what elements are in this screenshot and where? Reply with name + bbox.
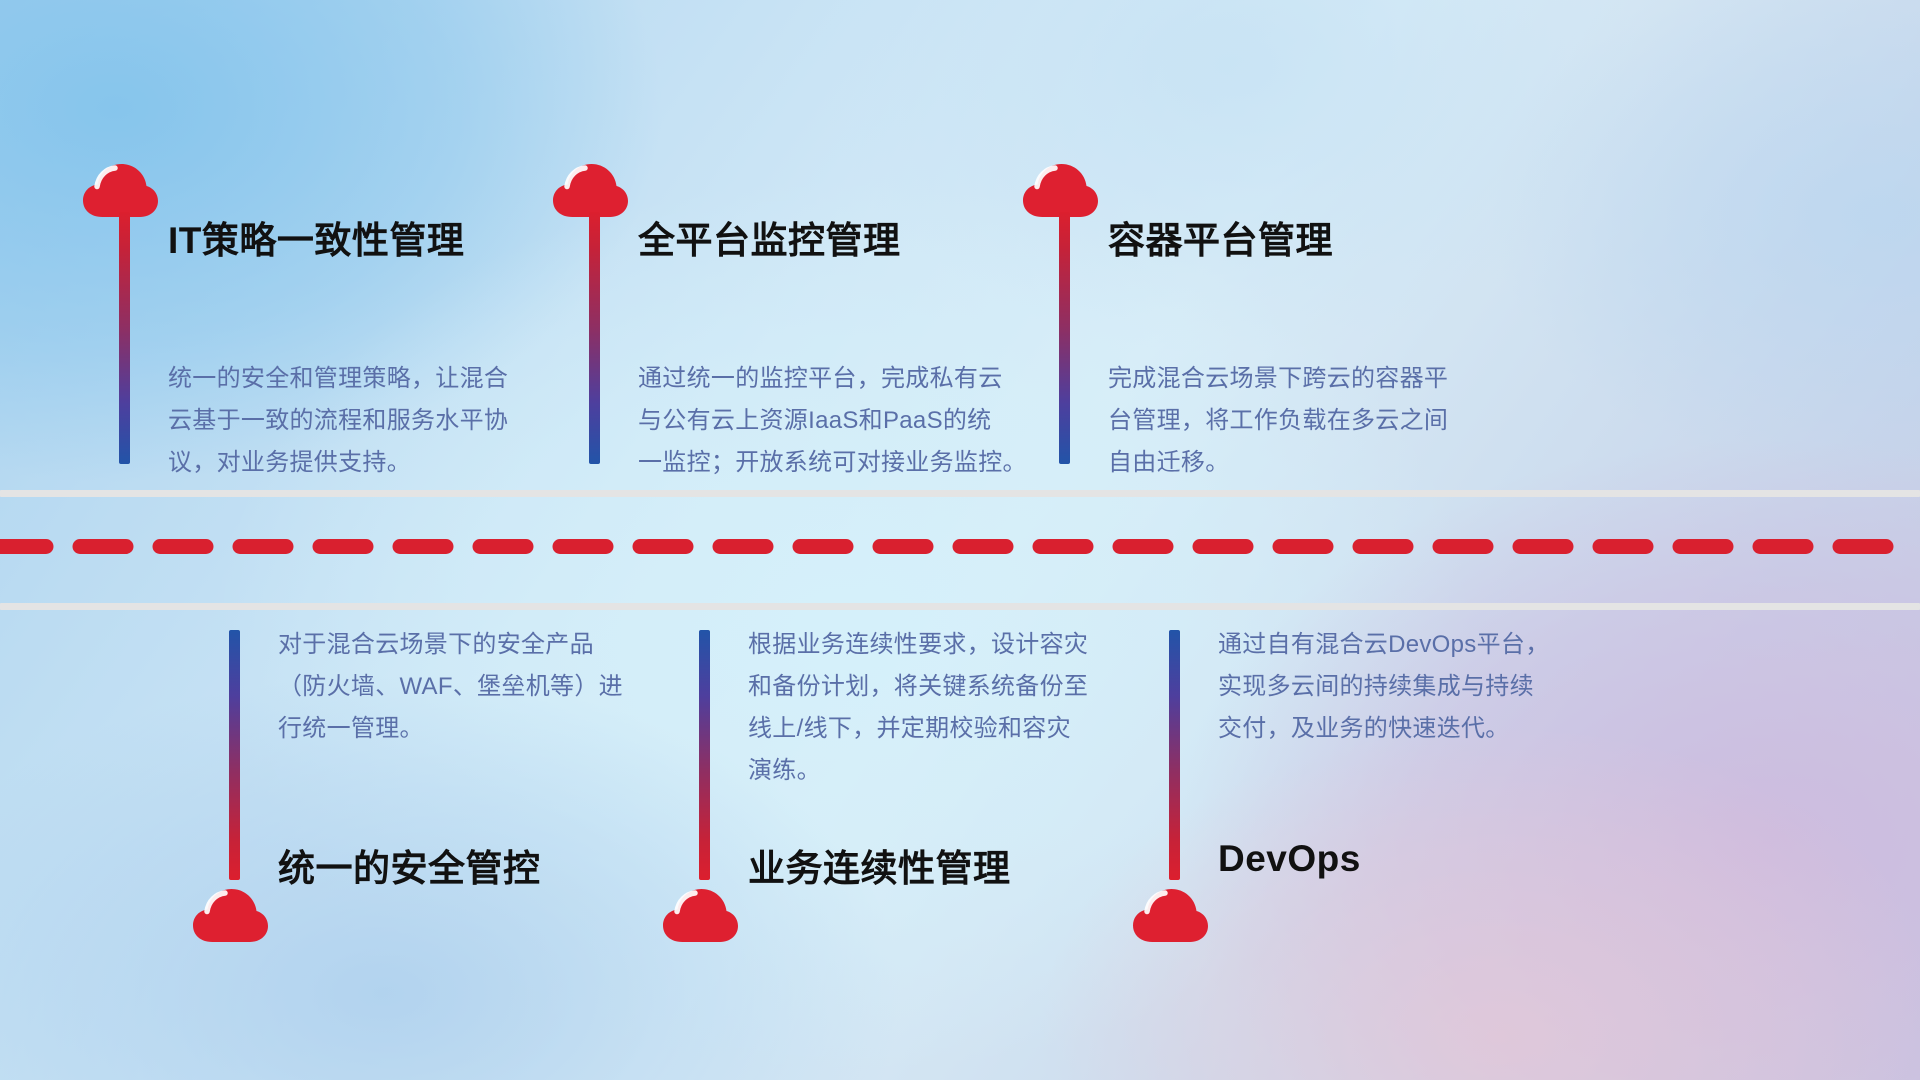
body-line: （防火墙、WAF、堡垒机等）进 [278, 666, 718, 708]
body-line: 云基于一致的流程和服务水平协 [168, 400, 608, 442]
connector-stem [699, 630, 710, 880]
card-title: IT策略一致性管理 [168, 210, 464, 264]
card-title: DevOps [1218, 838, 1361, 880]
cloud-icon [550, 160, 630, 220]
card-body: 通过统一的监控平台，完成私有云 与公有云上资源IaaS和PaaS的统 一监控；开… [638, 358, 1078, 484]
infographic-canvas: IT策略一致性管理 统一的安全和管理策略，让混合 云基于一致的流程和服务水平协 … [0, 0, 1920, 1080]
body-line: 和备份计划，将关键系统备份至 [748, 666, 1188, 708]
card-title: 统一的安全管控 [278, 838, 541, 892]
card-body: 完成混合云场景下跨云的容器平 台管理，将工作负载在多云之间 自由迁移。 [1108, 358, 1548, 484]
card-body: 根据业务连续性要求，设计容灾 和备份计划，将关键系统备份至 线上/线下，并定期校… [748, 624, 1188, 792]
body-line: 完成混合云场景下跨云的容器平 [1108, 358, 1548, 400]
card-title: 业务连续性管理 [748, 838, 1011, 892]
body-line: 台管理，将工作负载在多云之间 [1108, 400, 1548, 442]
divider-dashed-line [0, 539, 1920, 554]
card-body: 统一的安全和管理策略，让混合 云基于一致的流程和服务水平协 议，对业务提供支持。 [168, 358, 608, 484]
divider-rule-bottom [0, 603, 1920, 610]
connector-stem [119, 212, 130, 464]
cloud-icon [190, 885, 270, 945]
card-body: 通过自有混合云DevOps平台， 实现多云间的持续集成与持续 交付，及业务的快速… [1218, 624, 1658, 750]
body-line: 一监控；开放系统可对接业务监控。 [638, 442, 1078, 484]
card-body: 对于混合云场景下的安全产品 （防火墙、WAF、堡垒机等）进 行统一管理。 [278, 624, 718, 750]
connector-stem [1059, 212, 1070, 464]
connector-stem [1169, 630, 1180, 880]
connector-stem [589, 212, 600, 464]
body-line: 统一的安全和管理策略，让混合 [168, 358, 608, 400]
body-line: 演练。 [748, 750, 1188, 792]
body-line: 交付，及业务的快速迭代。 [1218, 708, 1658, 750]
card-title: 全平台监控管理 [638, 210, 901, 264]
body-line: 通过统一的监控平台，完成私有云 [638, 358, 1078, 400]
body-line: 自由迁移。 [1108, 442, 1548, 484]
body-line: 通过自有混合云DevOps平台， [1218, 624, 1658, 666]
body-line: 行统一管理。 [278, 708, 718, 750]
cloud-icon [1020, 160, 1100, 220]
body-line: 实现多云间的持续集成与持续 [1218, 666, 1658, 708]
cloud-icon [1130, 885, 1210, 945]
connector-stem [229, 630, 240, 880]
cloud-icon [80, 160, 160, 220]
body-line: 议，对业务提供支持。 [168, 442, 608, 484]
body-line: 根据业务连续性要求，设计容灾 [748, 624, 1188, 666]
body-line: 对于混合云场景下的安全产品 [278, 624, 718, 666]
card-title: 容器平台管理 [1108, 210, 1333, 264]
cloud-icon [660, 885, 740, 945]
body-line: 与公有云上资源IaaS和PaaS的统 [638, 400, 1078, 442]
divider-rule-top [0, 490, 1920, 497]
body-line: 线上/线下，并定期校验和容灾 [748, 708, 1188, 750]
hybrid-cloud-boundary [0, 490, 1920, 610]
